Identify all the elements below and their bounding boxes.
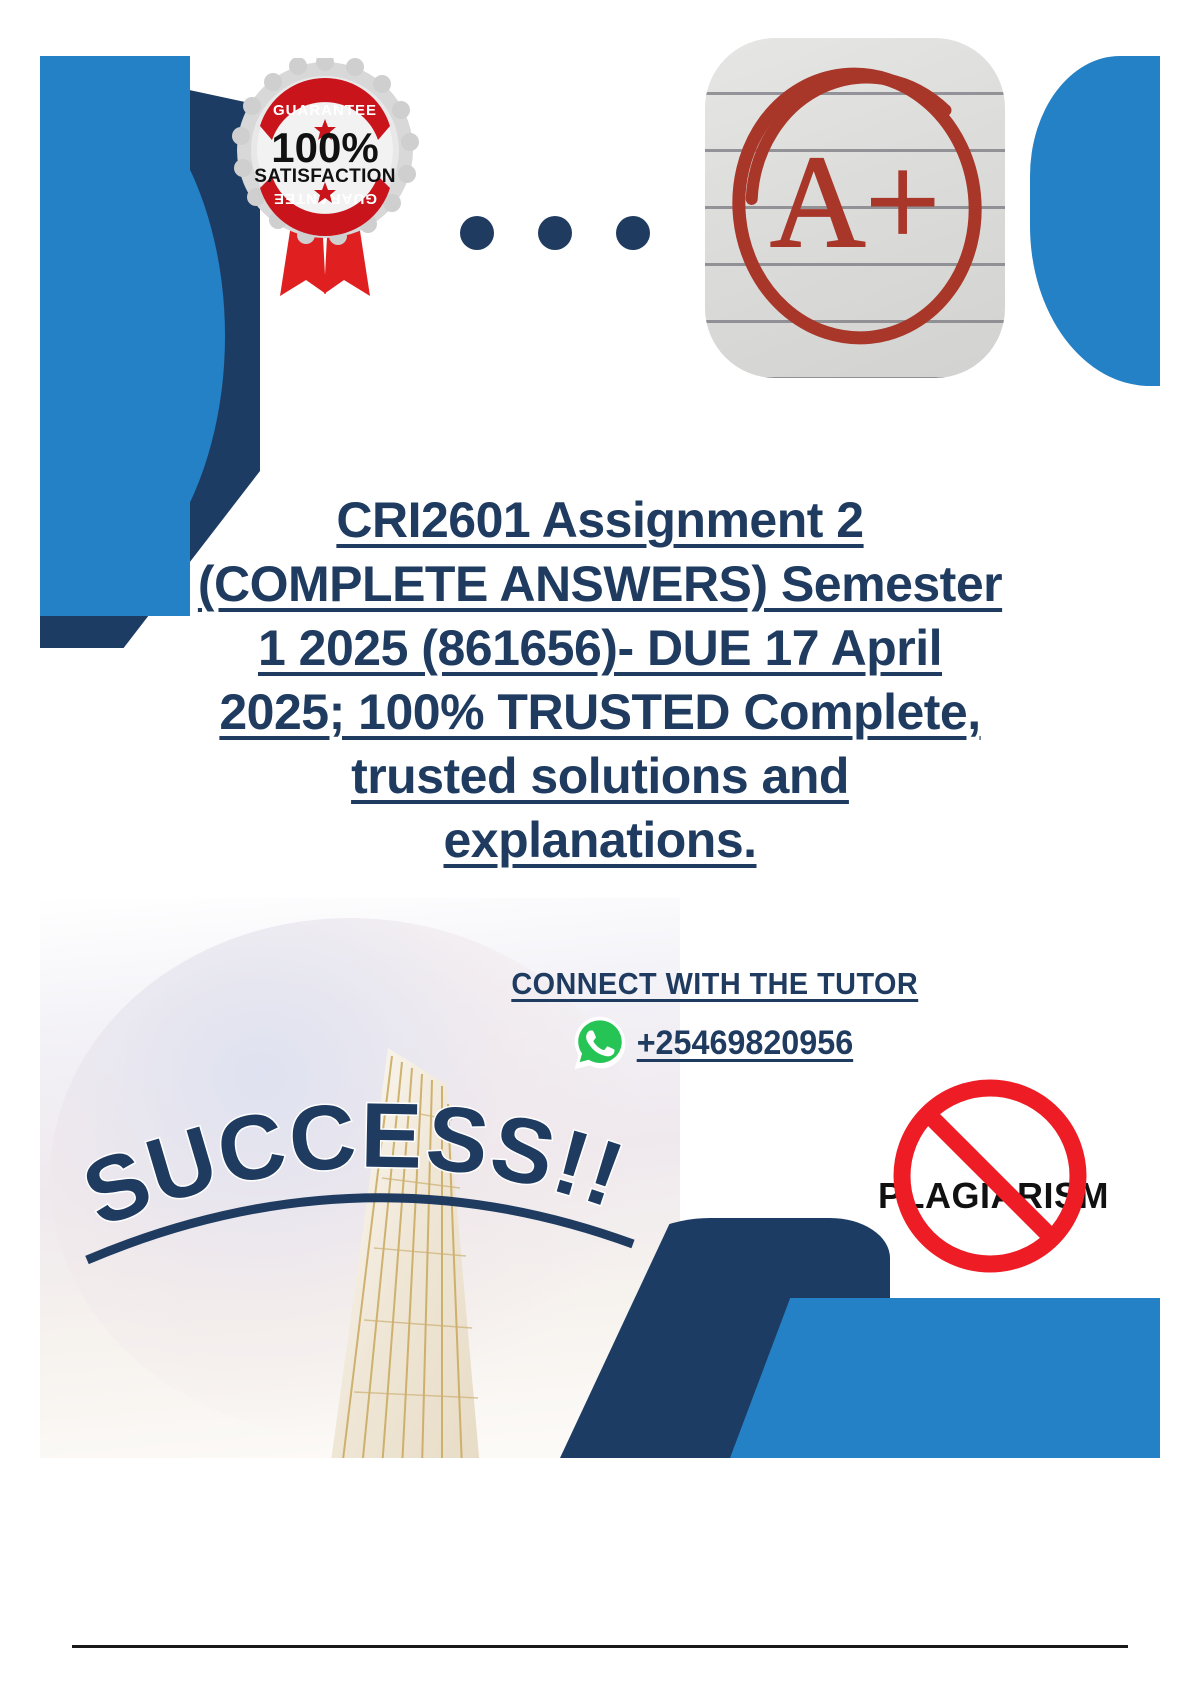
ellipsis-dots [460,213,650,253]
whatsapp-contact-row[interactable]: +25469820956 [435,1014,995,1072]
dot-1 [460,216,494,250]
no-plagiarism-icon: PLAGIARISM [870,1068,1130,1318]
whatsapp-icon[interactable] [571,1014,629,1072]
tutor-phone-number[interactable]: +25469820956 [637,1024,853,1063]
connect-with-tutor-heading: CONNECT WITH THE TUTOR [512,966,919,1002]
title-line-6: explanations. [70,808,1130,872]
page-title: CRI2601 Assignment 2 (COMPLETE ANSWERS) … [70,488,1130,872]
svg-text:GUARANTEE: GUARANTEE [273,102,377,119]
title-line-2: (COMPLETE ANSWERS) Semester [70,552,1130,616]
tutor-contact-block: CONNECT WITH THE TUTOR +25469820956 [435,966,995,1072]
title-line-5: trusted solutions and [70,744,1130,808]
flyer-card: GUARANTEE GUARANTEE 100% SATISFACTION [40,28,1160,1458]
title-line-4: 2025; 100% TRUSTED Complete, [70,680,1130,744]
bottom-right-blue-shape [730,1298,1160,1458]
success-banner-icon: SUCCESS!! [55,1048,665,1278]
dot-2 [538,216,572,250]
svg-text:A+: A+ [770,128,940,275]
badges-row: GUARANTEE GUARANTEE 100% SATISFACTION [40,28,1160,418]
svg-text:SATISFACTION: SATISFACTION [254,166,396,187]
guarantee-seal-icon: GUARANTEE GUARANTEE 100% SATISFACTION [230,58,420,303]
dot-3 [616,216,650,250]
bottom-divider [72,1645,1128,1648]
title-line-1: CRI2601 Assignment 2 [70,488,1130,552]
flyer-page: GUARANTEE GUARANTEE 100% SATISFACTION [0,0,1200,1700]
a-plus-grade-icon: A+ [705,38,1005,378]
svg-text:100%: 100% [271,124,378,171]
title-line-3: 1 2025 (861656)- DUE 17 April [70,616,1130,680]
